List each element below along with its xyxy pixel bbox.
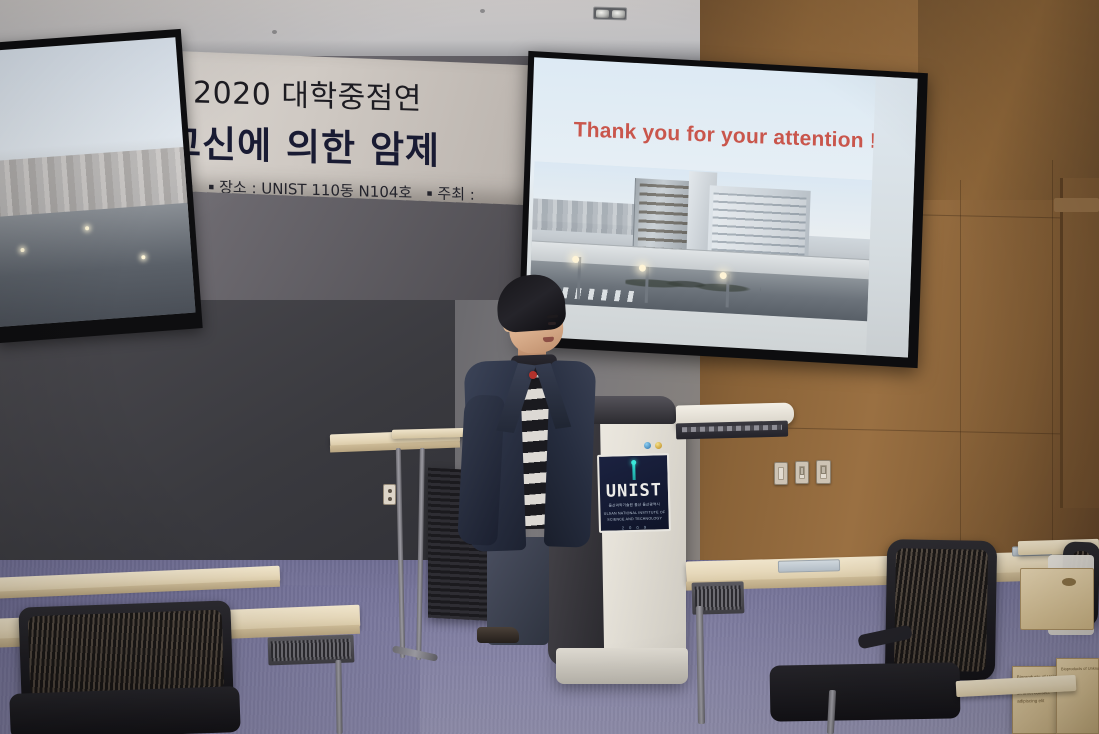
presenter-arm-left — [457, 394, 505, 546]
left-projection-screen: ntion !! — [0, 29, 203, 343]
banner-host: 주최 : — [437, 185, 474, 204]
main-slide-title: Thank you for your attention !! — [573, 118, 884, 154]
wall-outlet-plate[interactable] — [774, 462, 788, 485]
ceiling-spotlight-icon — [593, 7, 627, 21]
wall-outlet[interactable] — [383, 484, 396, 505]
presenter-eye — [548, 322, 556, 326]
wall-switch-plate[interactable] — [816, 460, 831, 484]
banner-line-1: 2020 대학중점연 — [193, 67, 545, 121]
lectern-shelf-tray — [676, 421, 788, 440]
door[interactable] — [1060, 178, 1099, 508]
event-banner: 2020 대학중점연 교신에 의한 암제 0 ~ ▪ 장소 : UNIST 11… — [150, 50, 550, 206]
banner-bullet-icon: ▪ — [208, 182, 214, 192]
lectern-indicator-amber — [655, 442, 662, 449]
unist-logo-wordmark: UNIST — [606, 482, 663, 500]
chair-mesh-back — [28, 610, 225, 697]
ceiling-sensor-icon — [272, 30, 277, 34]
box-label: Bioproducts of Unknown — [1061, 665, 1098, 673]
chair-mesh-back — [894, 548, 988, 672]
presenter-shoe — [477, 627, 519, 643]
unist-logo-year: 2 0 0 9 — [622, 525, 648, 531]
wall-switch-plate[interactable] — [795, 461, 809, 484]
left-slide-street — [0, 200, 196, 327]
slide-streetlight-glow — [572, 255, 579, 262]
box-handle-cutout — [1062, 578, 1076, 586]
door-header — [1054, 198, 1099, 212]
wood-seam — [1052, 160, 1053, 600]
desk-leg — [335, 660, 342, 734]
ceiling-sensor-icon — [480, 9, 485, 13]
chair-right[interactable] — [885, 539, 997, 681]
unist-logo: UNIST 울산과학기술원 울산 울산광역시 ULSAN NATIONAL IN… — [597, 453, 671, 533]
left-slide-image: ntion !! — [0, 37, 196, 327]
lectern-base — [556, 648, 688, 684]
unist-logo-subtitle-kr: 울산과학기술원 울산 울산광역시 — [603, 502, 665, 509]
unist-logo-subtitle-en: ULSAN NATIONAL INSTITUTE OF SCIENCE AND … — [603, 510, 665, 522]
banner-bullet-icon: ▪ — [427, 189, 433, 199]
chair-left-seat[interactable] — [9, 686, 240, 734]
conference-room-scene: 2020 대학중점연 교신에 의한 암제 0 ~ ▪ 장소 : UNIST 11… — [0, 0, 1099, 734]
presenter-lapel-mic — [529, 371, 537, 379]
slide-building-left — [633, 178, 693, 254]
cardboard-box-side: Bioproducts of Unknown — [1056, 658, 1099, 734]
unist-logo-dot-icon — [631, 460, 636, 465]
chair-right-seat[interactable] — [770, 662, 961, 721]
wood-wall-upper-panel — [918, 0, 1099, 200]
desk-cable-box — [268, 635, 355, 666]
cardboard-box-upper — [1020, 568, 1094, 630]
lectern-indicator-blue — [644, 442, 651, 449]
banner-line-2: 교신에 의한 암제 — [167, 113, 545, 178]
slide-right-margin — [866, 76, 918, 357]
desk-power-inlay[interactable] — [778, 559, 840, 573]
presenter-hair — [495, 273, 567, 334]
